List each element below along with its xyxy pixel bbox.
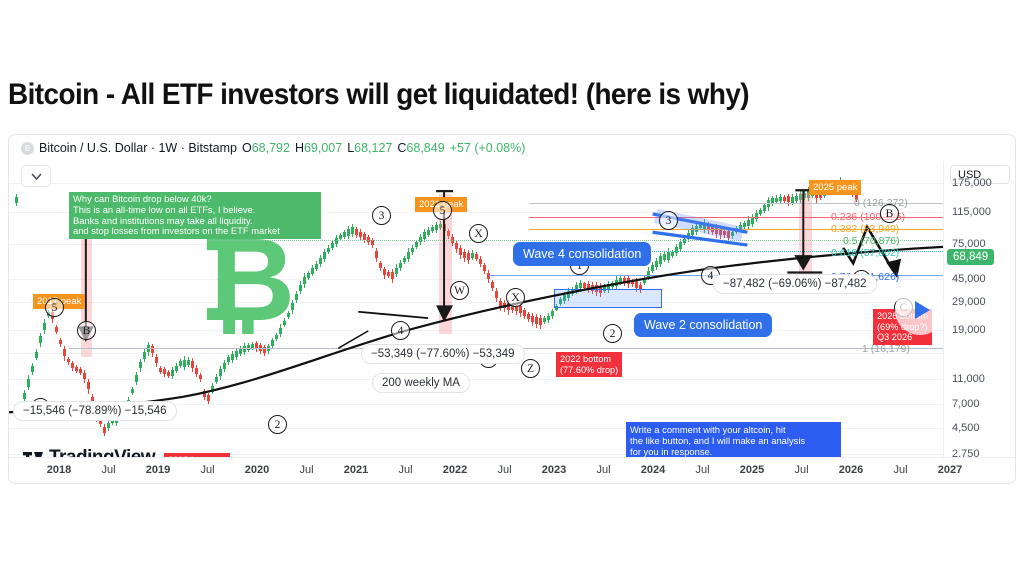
candle — [723, 161, 726, 457]
candle — [351, 161, 354, 457]
candle — [519, 161, 522, 457]
ohlc-close-value: 68,849 — [406, 141, 444, 155]
candle — [739, 161, 742, 457]
symbol-title[interactable]: Bitcoin / U.S. Dollar · 1W · Bitstamp — [39, 141, 237, 155]
chevron-down-icon[interactable] — [21, 165, 51, 187]
candle — [359, 161, 362, 457]
candle — [563, 161, 566, 457]
candle — [683, 161, 686, 457]
candle — [619, 161, 622, 457]
candle — [583, 161, 586, 457]
candle — [679, 161, 682, 457]
time-tick: Jul — [893, 464, 907, 476]
candle — [335, 161, 338, 457]
candle — [523, 161, 526, 457]
candle — [783, 161, 786, 457]
candle — [699, 161, 702, 457]
candle — [695, 161, 698, 457]
wave-marker-X2-2022: X — [506, 288, 525, 307]
wave-marker-5-2017: 5 — [45, 298, 64, 317]
price-tick: 45,000 — [952, 273, 986, 285]
wave-marker-W-2022: W — [450, 281, 469, 300]
candle — [403, 161, 406, 457]
candle — [495, 161, 498, 457]
candle — [571, 161, 574, 457]
candle — [639, 161, 642, 457]
tradingview-mark-icon — [23, 451, 45, 458]
badge-2025-peak: 2025 peak — [809, 180, 861, 195]
time-tick: Jul — [200, 464, 214, 476]
wave-marker-4-2021: 4 — [391, 321, 410, 340]
time-tick: 2026 — [839, 464, 863, 476]
wave-marker-2-2020: 2 — [268, 415, 287, 434]
candle — [827, 161, 830, 457]
candle — [539, 161, 542, 457]
candle — [339, 161, 342, 457]
candle — [823, 161, 826, 457]
ohlc-open-label: O — [242, 141, 252, 155]
measure-2021-box: −53,349 (−77.60%) −53,349 — [361, 344, 525, 364]
price-axis[interactable]: USD 175,000 115,000 75,000 68,849 45,000… — [943, 161, 1015, 457]
candle — [675, 161, 678, 457]
candle — [407, 161, 410, 457]
play-icon[interactable] — [895, 285, 945, 335]
current-price-badge: 68,849 — [947, 249, 994, 265]
price-tick: 7,000 — [952, 398, 980, 410]
candle — [703, 161, 706, 457]
time-tick: 2027 — [938, 464, 962, 476]
candle — [819, 161, 822, 457]
candle — [771, 161, 774, 457]
candle — [551, 161, 554, 457]
candle — [591, 161, 594, 457]
measure-2025-box: −87,482 (−69.06%) −87,482 — [713, 274, 877, 294]
candle — [643, 161, 646, 457]
candle — [731, 161, 734, 457]
wave-marker-5-2021: 5 — [433, 201, 452, 220]
candle — [547, 161, 550, 457]
candle — [743, 161, 746, 457]
time-tick: Jul — [596, 464, 610, 476]
candle — [747, 161, 750, 457]
candle — [363, 161, 366, 457]
candle — [655, 161, 658, 457]
ohlc-high: H69,007 — [295, 141, 342, 155]
candle — [671, 161, 674, 457]
time-tick: 2018 — [47, 464, 71, 476]
time-tick: Jul — [101, 464, 115, 476]
candle — [567, 161, 570, 457]
time-tick: 2021 — [344, 464, 368, 476]
time-tick: Jul — [794, 464, 808, 476]
candle — [507, 161, 510, 457]
wave-marker-X1-2022: X — [469, 224, 488, 243]
candle — [691, 161, 694, 457]
price-tick: 19,000 — [952, 324, 986, 336]
candle — [331, 161, 334, 457]
candle — [587, 161, 590, 457]
candle — [711, 161, 714, 457]
price-tick: 11,000 — [952, 373, 985, 385]
ohlc-low: L68,127 — [347, 141, 392, 155]
candle — [667, 161, 670, 457]
candle — [475, 161, 478, 457]
ohlc-change: +57 (+0.08%) — [450, 141, 526, 155]
candle — [735, 161, 738, 457]
candle — [623, 161, 626, 457]
candle — [535, 161, 538, 457]
price-tick: 175,000 — [952, 177, 992, 189]
time-tick: 2022 — [443, 464, 467, 476]
page-title: Bitcoin - All ETF investors will get liq… — [8, 78, 749, 112]
fib-label-05: 0.5 (70,876) — [843, 235, 900, 247]
candle — [559, 161, 562, 457]
time-tick: 2024 — [641, 464, 665, 476]
candle — [399, 161, 402, 457]
candle — [467, 161, 470, 457]
candle — [763, 161, 766, 457]
fib-label-0382: 0.382 (83,949) — [831, 223, 899, 235]
price-tick: 4,500 — [952, 422, 980, 434]
candle — [635, 161, 638, 457]
candle — [371, 161, 374, 457]
candle — [391, 161, 394, 457]
candle — [395, 161, 398, 457]
candle — [759, 161, 762, 457]
measure-2018-box: −15,546 (−78.89%) −15,546 — [13, 401, 177, 421]
time-tick: Jul — [695, 464, 709, 476]
time-tick: Jul — [497, 464, 511, 476]
candle — [847, 161, 850, 457]
candle — [779, 161, 782, 457]
candle — [347, 161, 350, 457]
candle — [323, 161, 326, 457]
ohlc-open-value: 68,792 — [252, 141, 290, 155]
badge-2018-bottom: 2018 bottom (78.89% drop) — [164, 453, 230, 457]
candle — [491, 161, 494, 457]
ohlc-open: O68,792 — [242, 141, 290, 155]
wave-marker-B-2018: B — [77, 321, 96, 340]
candle — [603, 161, 606, 457]
candle — [555, 161, 558, 457]
wave-marker-Z-2022: Z — [521, 359, 540, 378]
candle — [355, 161, 358, 457]
candle — [607, 161, 610, 457]
candle — [831, 161, 834, 457]
candle — [471, 161, 474, 457]
price-tick: 29,000 — [952, 296, 986, 308]
candle — [627, 161, 630, 457]
candle — [787, 161, 790, 457]
candle — [479, 161, 482, 457]
ma-200-weekly-label: 200 weekly MA — [372, 373, 470, 393]
candle — [531, 161, 534, 457]
candle — [791, 161, 794, 457]
candle — [767, 161, 770, 457]
time-tick: Jul — [398, 464, 412, 476]
wave-marker-B-2026: B — [880, 204, 899, 223]
candle — [795, 161, 798, 457]
candle — [327, 161, 330, 457]
candle — [387, 161, 390, 457]
candle — [611, 161, 614, 457]
candle — [631, 161, 634, 457]
fib-label-1: 1 (16,179) — [862, 343, 910, 355]
time-axis[interactable]: 2018Jul2019Jul2020Jul2021Jul2022Jul2023J… — [9, 457, 1015, 483]
candle — [499, 161, 502, 457]
candle — [719, 161, 722, 457]
candle — [343, 161, 346, 457]
wave4-consolidation-label: Wave 4 consolidation — [513, 242, 651, 266]
wave2-consolidation-label: Wave 2 consolidation — [634, 313, 772, 337]
candle — [411, 161, 414, 457]
candle — [599, 161, 602, 457]
candle — [687, 161, 690, 457]
candle — [515, 161, 518, 457]
candle — [751, 161, 754, 457]
chart-header: B Bitcoin / U.S. Dollar · 1W · Bitstamp … — [9, 135, 1015, 161]
wave-marker-3-2021: 3 — [372, 206, 391, 225]
candle — [527, 161, 530, 457]
tradingview-logo: TradingView — [23, 447, 155, 457]
candle — [715, 161, 718, 457]
candle — [707, 161, 710, 457]
candle — [727, 161, 730, 457]
candle — [615, 161, 618, 457]
time-tick: 2020 — [245, 464, 269, 476]
candle — [775, 161, 778, 457]
fib-label-0618: 0.618 (57,802) — [831, 247, 899, 259]
time-tick: 2025 — [740, 464, 764, 476]
tradingview-chart-card[interactable]: B Bitcoin / U.S. Dollar · 1W · Bitstamp … — [8, 134, 1016, 484]
fib-line-05 — [209, 240, 943, 241]
chart-plot-area[interactable]: ₿ — [9, 161, 943, 457]
candle — [543, 161, 546, 457]
candle — [367, 161, 370, 457]
candle — [575, 161, 578, 457]
wave-marker-3-2024: 3 — [659, 211, 678, 230]
candle — [487, 161, 490, 457]
candle — [755, 161, 758, 457]
time-tick: 2019 — [146, 464, 170, 476]
tradingview-logo-text: TradingView — [49, 447, 155, 457]
candle — [659, 161, 662, 457]
ohlc-high-label: H — [295, 141, 304, 155]
candle — [651, 161, 654, 457]
ohlc-low-value: 68,127 — [354, 141, 392, 155]
time-tick: 2023 — [542, 464, 566, 476]
symbol-logo-icon: B — [21, 142, 34, 155]
candle — [843, 161, 846, 457]
candle — [483, 161, 486, 457]
wave2-consolidation-box — [554, 289, 662, 308]
price-tick: 115,000 — [952, 206, 991, 218]
green-note-box: Why can Bitcoin drop below 40k? This is … — [69, 192, 321, 239]
ohlc-close: C68,849 — [397, 141, 444, 155]
candle — [375, 161, 378, 457]
candle — [663, 161, 666, 457]
candle — [579, 161, 582, 457]
time-tick: Jul — [299, 464, 313, 476]
wave-marker-2-2023: 2 — [603, 324, 622, 343]
candle — [503, 161, 506, 457]
candle — [839, 161, 842, 457]
candle — [835, 161, 838, 457]
badge-2022-bottom: 2022 bottom (77.60% drop) — [556, 352, 622, 377]
play-triangle-icon — [915, 301, 930, 319]
ohlc-high-value: 69,007 — [304, 141, 342, 155]
blue-comment-box: Write a comment with your altcoin, hit t… — [626, 422, 841, 457]
candle — [647, 161, 650, 457]
candle — [595, 161, 598, 457]
candle — [511, 161, 514, 457]
candle — [815, 161, 818, 457]
